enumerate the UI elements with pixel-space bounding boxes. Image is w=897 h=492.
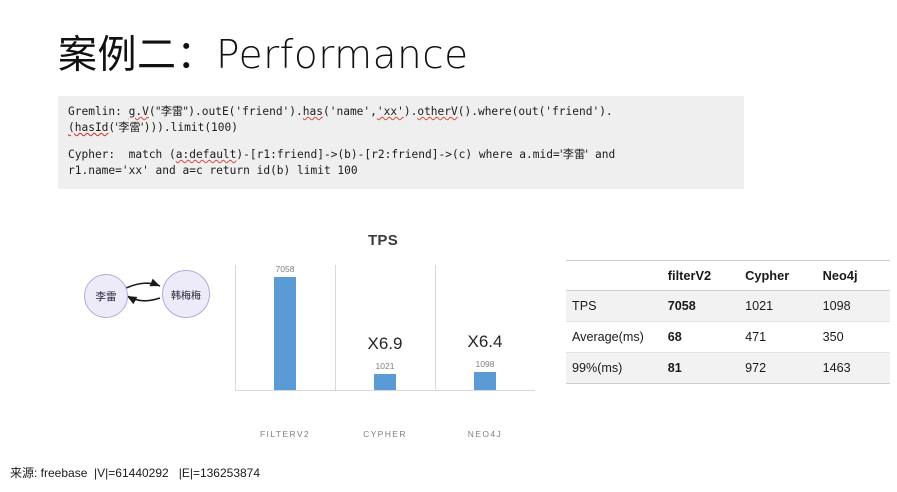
footer-source: 来源: freebase [10,466,87,480]
page-title: 案例二：Performance [58,24,469,80]
bar-annotation-cypher: X6.9 [368,334,403,354]
code-line-gremlin-1: Gremlin: g.V("李雷").outE('friend').has('n… [68,104,734,120]
tps-bar-chart: TPS 7058 1021 X6.9 1098 X6.4 FILTERV2 CY… [228,232,538,412]
cell-p99-neo4j: 1463 [817,353,890,384]
page-title-cjk: 案例二： [58,34,216,77]
table-header-blank [566,261,662,291]
chart-plot-area: 7058 1021 X6.9 1098 X6.4 FILTERV2 CYPHER… [235,265,535,390]
cell-tps-cypher: 1021 [739,291,817,322]
table-row-p99: 99%(ms) 81 972 1463 [566,353,890,384]
bar-value-neo4j: 1098 [476,359,495,369]
chart-axis-line [235,390,535,391]
table-header-neo4j: Neo4j [817,261,890,291]
cell-p99-cypher: 972 [739,353,817,384]
page-title-latin: Performance [216,33,469,78]
cell-tps-filterv2: 7058 [662,291,739,322]
cell-p99-filterv2: 81 [662,353,739,384]
table-header-filterv2: filterV2 [662,261,739,291]
bar-neo4j [474,372,496,390]
row-label-tps: TPS [566,291,662,322]
cell-average-filterv2: 68 [662,322,739,353]
row-label-p99: 99%(ms) [566,353,662,384]
bar-value-cypher: 1021 [376,361,395,371]
bar-cypher [374,374,396,390]
edge-left-to-right [126,283,160,288]
performance-metrics-table: filterV2 Cypher Neo4j TPS 7058 1021 1098… [566,260,890,384]
bar-annotation-neo4j: X6.4 [468,332,503,352]
code-line-cypher-2: r1.name='xx' and a=c return id(b) limit … [68,163,734,179]
table-header-row: filterV2 Cypher Neo4j [566,261,890,291]
table-header-cypher: Cypher [739,261,817,291]
code-line-cypher-1: Cypher: match (a:default)-[r1:friend]->(… [68,147,734,163]
cell-average-cypher: 471 [739,322,817,353]
query-code-block: Gremlin: g.V("李雷").outE('friend').has('n… [58,96,744,189]
bar-group-neo4j: 1098 X6.4 [435,265,535,390]
source-footer: 来源: freebase |V|=61440292 |E|=136253874 [10,464,260,481]
footer-edges: |E|=136253874 [179,466,260,480]
cell-tps-neo4j: 1098 [817,291,890,322]
graph-node-lilei: 李雷 [84,274,128,318]
chart-xtick-cypher: CYPHER [335,429,435,439]
graph-node-lilei-label: 李雷 [96,289,117,304]
chart-xtick-neo4j: NEO4J [435,429,535,439]
edge-right-to-left [127,296,160,301]
table-row-average: Average(ms) 68 471 350 [566,322,890,353]
bar-group-cypher: 1021 X6.9 [335,265,435,390]
bar-value-filterv2: 7058 [276,264,295,274]
footer-vertices: |V|=61440292 [94,466,169,480]
bar-group-filterv2: 7058 [235,265,335,390]
graph-node-hanmeimei: 韩梅梅 [162,270,210,318]
chart-xtick-filterv2: FILTERV2 [235,429,335,439]
friendship-graph-diagram: 李雷 韩梅梅 [70,262,220,328]
bar-filterv2 [274,277,296,390]
cell-average-neo4j: 350 [817,322,890,353]
row-label-average: Average(ms) [566,322,662,353]
code-spacer [68,136,734,147]
graph-node-hanmeimei-label: 韩梅梅 [171,287,201,302]
code-line-gremlin-2: (hasId('李雷'))).limit(100) [68,120,734,136]
table-row-tps: TPS 7058 1021 1098 [566,291,890,322]
chart-title: TPS [228,232,538,249]
